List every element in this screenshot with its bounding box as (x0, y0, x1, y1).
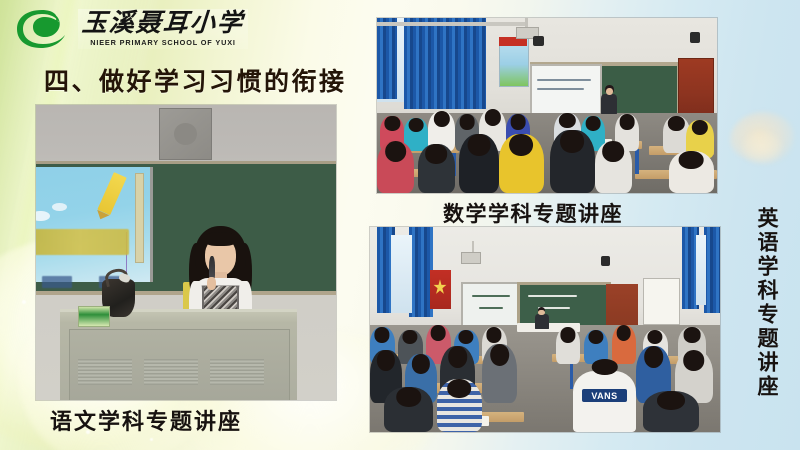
school-name-english: NIEER PRIMARY SCHOOL OF YUXI (90, 38, 236, 47)
photo3-student-head-9 (648, 330, 663, 345)
background-sparkle-2 (22, 300, 26, 304)
school-name-block: 玉溪聂耳小学 NIEER PRIMARY SCHOOL OF YUXI (78, 9, 248, 49)
photo2-student-head-16 (561, 130, 585, 153)
photo3-speaker (601, 256, 610, 266)
photo1-green-box (78, 306, 110, 327)
photo1-presenter-hand (207, 277, 216, 290)
photo2-student-head-18 (679, 151, 704, 169)
photo3-student-head-6 (560, 327, 575, 342)
photo2-student-13 (418, 144, 455, 193)
presentation-slide: 玉溪聂耳小学 NIEER PRIMARY SCHOOL OF YUXI 四、做好… (0, 0, 800, 450)
photo2-student-head-2 (409, 118, 424, 132)
photo3-student-head-16 (683, 350, 705, 371)
school-logo: 玉溪聂耳小学 NIEER PRIMARY SCHOOL OF YUXI (14, 8, 248, 50)
photo2-student-head-9 (620, 114, 635, 129)
photo2-student-head-8 (586, 116, 601, 131)
photo2-screen-textline-1 (537, 79, 591, 81)
photo1-screen-cloud-1 (36, 211, 50, 221)
photo3-student-head-5 (487, 327, 502, 342)
photo2-teacher-face (606, 88, 613, 95)
photo2-student-16 (550, 130, 594, 193)
photo3-window-left (391, 235, 412, 313)
photo3-whiteboard (461, 282, 525, 327)
photo3-student-17 (384, 387, 433, 432)
photo3-curtain-right (704, 227, 720, 313)
photo2-door (678, 58, 714, 118)
photo3-teacher (535, 307, 549, 330)
photo2-student-head-15 (510, 134, 534, 157)
caption-chinese-lecture: 语文学科专题讲座 (50, 404, 242, 436)
photo2-student-head-10 (668, 116, 684, 131)
caption-english-lecture: 英语学科专题讲座 (752, 207, 782, 399)
photo2-teacher-body (601, 94, 617, 114)
photo3-student-head-19 (657, 391, 685, 410)
photo3-vans-logo: VANS (582, 389, 627, 403)
photo3-student-head-10 (684, 327, 701, 342)
photo3-student-head-vans (591, 359, 617, 375)
photo3-desk-leg-3 (570, 362, 574, 389)
photo-chinese-lecture (36, 105, 336, 400)
photo1-podium-louver-2 (144, 359, 198, 386)
photo3-projector-arm (472, 241, 475, 251)
photo1-screen-cloud-2 (52, 203, 67, 211)
photo3-red-banner (430, 270, 451, 309)
background-petal-highlight-right (742, 132, 782, 162)
photo3-student-19 (643, 391, 699, 432)
photo3-wall-chart (643, 278, 680, 325)
photo3-window-right (696, 235, 707, 305)
photo2-student-18 (669, 151, 713, 193)
photo2-curtain-far-left (377, 18, 397, 99)
photo1-screen-title-text (36, 229, 129, 256)
photo2-student-head-4 (460, 114, 475, 129)
photo3-chalkboard-text-1 (528, 295, 577, 297)
photo2-student-head-17 (602, 141, 624, 162)
photo2-student-17 (595, 141, 632, 194)
photo3-student-head-1 (375, 327, 390, 342)
photo2-student-head-1 (385, 116, 400, 131)
photo2-speaker-right (690, 32, 700, 43)
photo3-teacher-body (535, 314, 549, 329)
school-name-chinese: 玉溪聂耳小学 (81, 10, 245, 36)
photo1-podium-louver-3 (210, 359, 264, 386)
photo2-curtain-left (404, 18, 486, 109)
photo1-screen-ruler-graphic (135, 173, 144, 264)
photo-math-lecture (377, 18, 717, 193)
photo2-student-head-12 (385, 141, 407, 162)
photo3-student-head-12 (412, 354, 430, 374)
photo3-teacher-face (538, 310, 544, 315)
photo1-screen-subtitle-left (42, 276, 72, 288)
photo3-student-head-13 (448, 346, 468, 368)
photo2-screen-textline-2 (537, 88, 585, 90)
photo3-student-head-7 (588, 330, 603, 345)
photo3-student-head-8 (616, 325, 631, 341)
photo2-student-12 (377, 141, 414, 194)
photo3-student-head-18 (447, 379, 471, 398)
photo2-student-head-14 (468, 134, 491, 157)
photo2-teacher (601, 85, 617, 115)
photo2-student-head-11 (692, 120, 708, 135)
photo3-door (606, 284, 638, 329)
caption-math-lecture: 数学学科专题讲座 (443, 198, 623, 228)
background-sparkle-4 (150, 438, 153, 441)
photo2-desk-leg-4 (635, 149, 639, 174)
photo3-student-head-17 (396, 387, 421, 407)
slide-title: 四、做好学习习惯的衔接 (44, 62, 347, 98)
photo3-projector (461, 252, 481, 264)
photo3-student-14 (482, 344, 517, 403)
photo3-student-head-15 (644, 346, 664, 368)
photo2-student-15 (499, 134, 543, 194)
photo1-podium-louver-1 (78, 359, 132, 386)
photo3-student-head-3 (431, 325, 446, 341)
photo2-student-head-7 (559, 113, 575, 129)
photo2-speaker-left (533, 36, 543, 47)
photo2-student-14 (459, 134, 500, 194)
photo2-student-head-6 (511, 114, 526, 129)
photo3-student-6 (556, 327, 581, 364)
photo3-student-8 (612, 325, 637, 364)
photo3-whiteboard-text-2 (479, 307, 504, 309)
photo3-student-vans-hoodie: VANS (573, 371, 636, 433)
photo2-student-head-13 (426, 144, 448, 164)
photo2-student-head-3 (433, 111, 449, 127)
photo1-wall-vent (159, 108, 212, 160)
photo3-student-head-4 (459, 330, 474, 345)
school-swoosh-logo-icon (14, 8, 70, 50)
photo3-student-striped (437, 379, 483, 432)
photo3-student-head-14 (490, 344, 510, 367)
photo3-whiteboard-text-1 (472, 295, 511, 297)
photo2-student-head-5 (484, 109, 500, 126)
photo1-presenter-bangs (203, 232, 239, 246)
photo-english-lecture: VANS (370, 227, 720, 432)
photo2-curtain-rail (377, 22, 527, 26)
photo3-student-head-2 (403, 330, 418, 345)
photo3-student-head-11 (377, 350, 395, 371)
